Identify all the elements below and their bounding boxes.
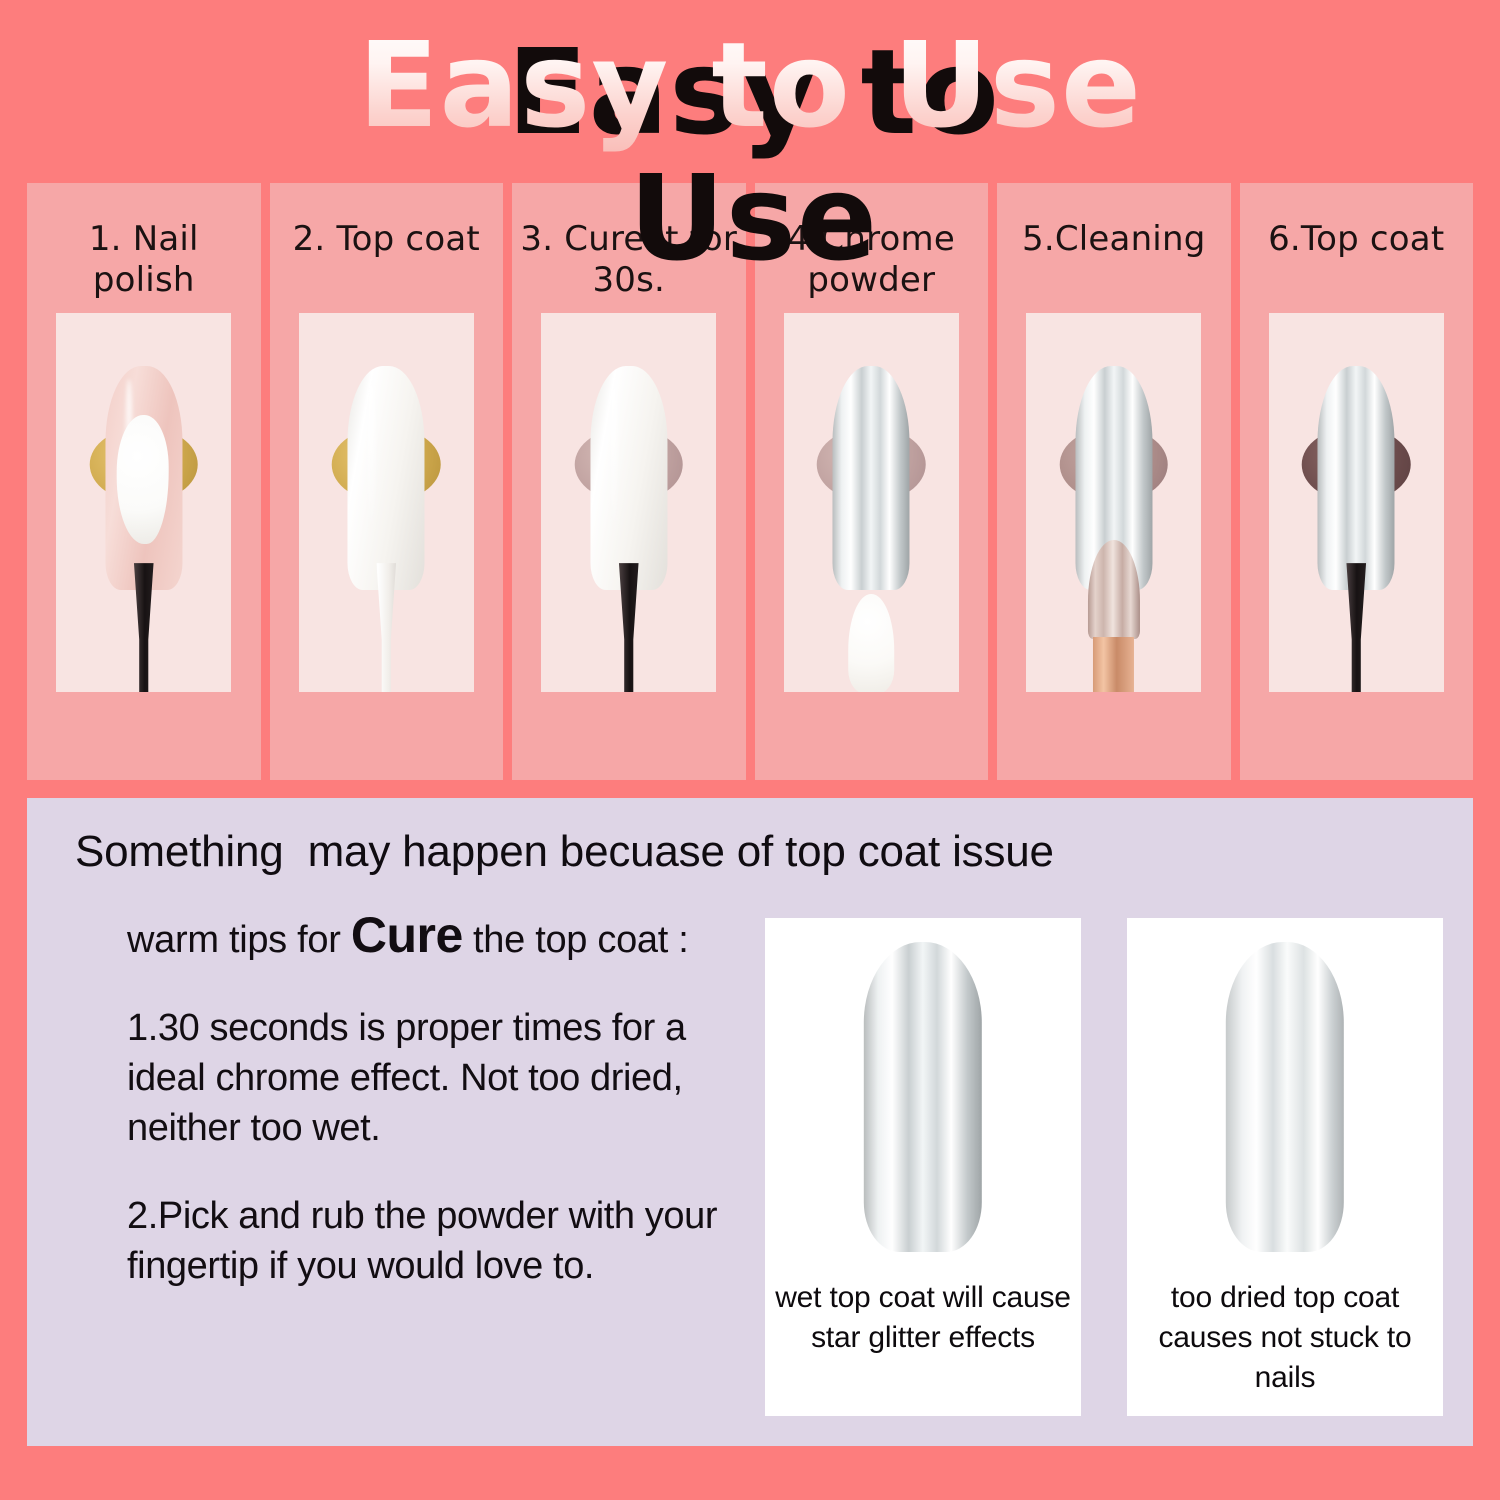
troubleshooting-panel: Something may happen becuase of top coat… [27, 798, 1473, 1446]
title-area: Easy to Use Easy to Use [0, 22, 1500, 162]
nail-gloss [368, 379, 376, 531]
panel-body: warm tips for Cure the top coat : 1.30 s… [57, 910, 1443, 1416]
tips-lead-before: warm tips for [127, 919, 351, 961]
chrome-nail-icon [1226, 942, 1344, 1252]
brush-bristles [1088, 540, 1140, 639]
step-photo-6 [1269, 313, 1444, 692]
nail-tip-icon [348, 366, 425, 590]
tip-item-1: 1.30 seconds is proper times for a ideal… [127, 1003, 745, 1153]
tips-lead-after: the top coat : [463, 919, 689, 961]
tip-item-2: 2.Pick and rub the powder with your fing… [127, 1191, 745, 1291]
sponge-tip [848, 594, 894, 692]
step-card-1: 1. Nail polish [27, 183, 261, 780]
example-card-wet: wet top coat will cause star glitter eff… [765, 918, 1081, 1416]
example-image-dried [1137, 932, 1433, 1262]
nail-tip-icon [590, 366, 667, 590]
example-image-wet [775, 932, 1071, 1262]
example-caption: too dried top coat causes not stuck to n… [1137, 1278, 1433, 1398]
panel-heading: Something may happen becuase of top coat… [57, 824, 1443, 880]
chrome-nail-icon [1318, 366, 1395, 590]
sponge-applicator-icon [848, 556, 894, 692]
chrome-nail-icon [864, 942, 982, 1252]
tips-lead-strong: Cure [351, 907, 463, 963]
nail-gloss [610, 379, 618, 531]
examples-column: wet top coat will cause star glitter eff… [745, 910, 1443, 1416]
step-photo-3 [541, 313, 716, 692]
brush-ferrule [1093, 637, 1134, 692]
tips-lead: warm tips for Cure the top coat : [127, 910, 745, 965]
tips-column: warm tips for Cure the top coat : 1.30 s… [57, 910, 745, 1416]
title-face: Easy to Use [358, 16, 1142, 154]
step-photo-2 [299, 313, 474, 692]
page-title: Easy to Use Easy to Use [358, 22, 1142, 148]
infographic-poster: Easy to Use Easy to Use 1. Nail polish 2… [0, 0, 1500, 1500]
step-photo-1 [56, 313, 231, 692]
makeup-brush-icon [1079, 540, 1149, 692]
white-polish-blob [116, 415, 169, 544]
step-label: 1. Nail polish [27, 183, 261, 301]
step-photo-4 [784, 313, 959, 692]
example-card-dried: too dried top coat causes not stuck to n… [1127, 918, 1443, 1416]
example-caption: wet top coat will cause star glitter eff… [775, 1278, 1071, 1358]
step-photo-5 [1026, 313, 1201, 692]
step-card-6: 6.Top coat [1240, 183, 1474, 780]
step-label: 6.Top coat [1240, 183, 1474, 260]
